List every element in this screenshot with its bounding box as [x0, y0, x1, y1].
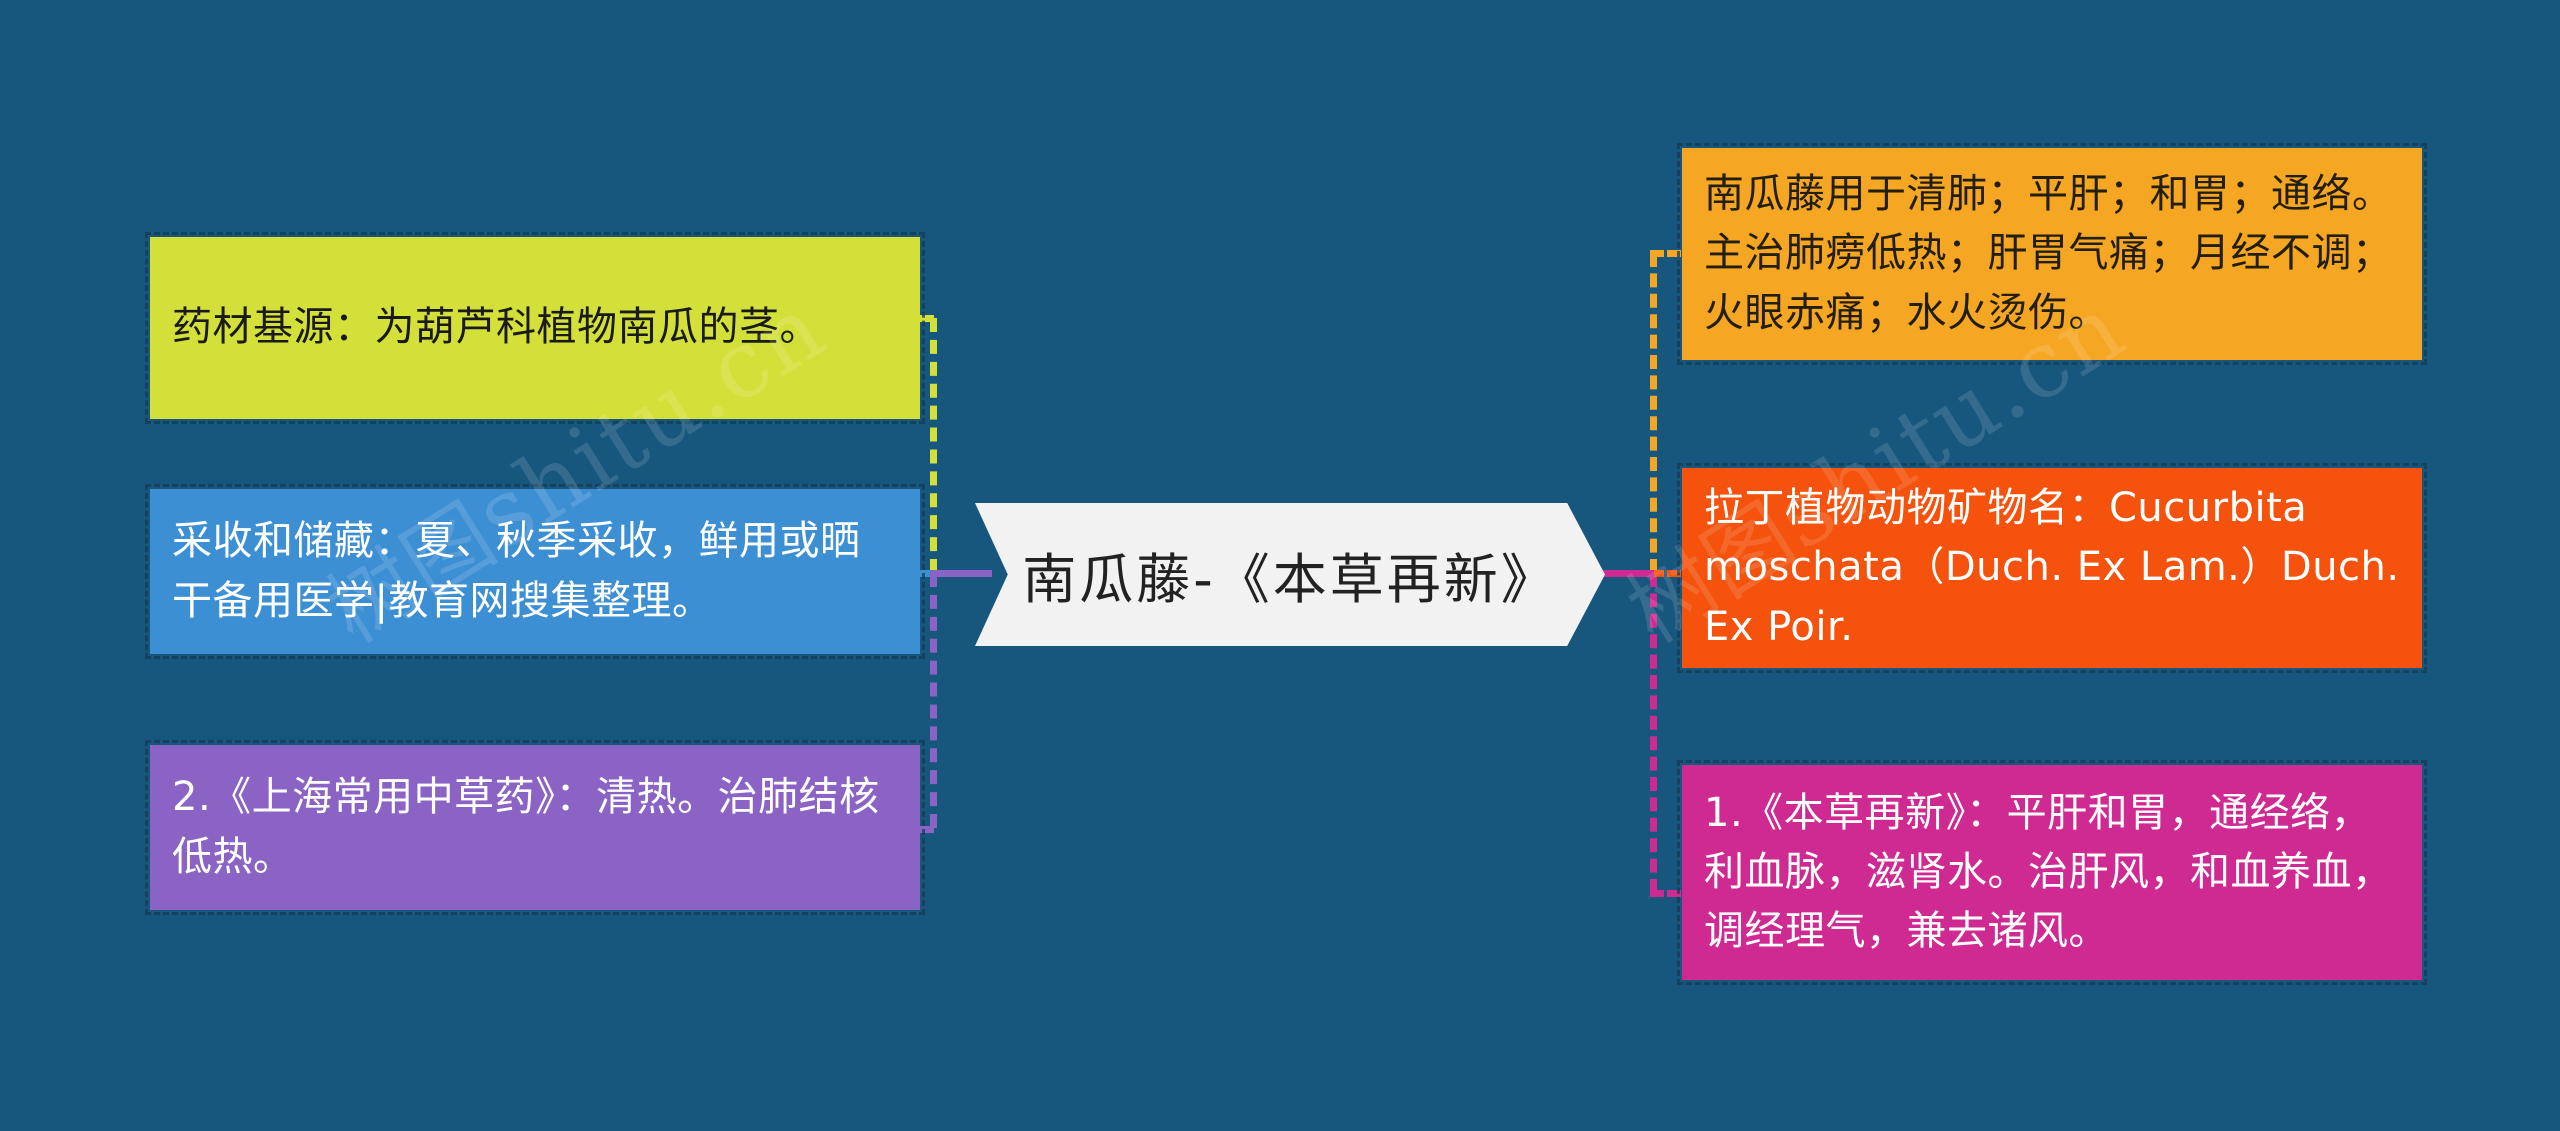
topic-shanghai-changyong-zhongcaoyao[interactable]: 2.《上海常用中草药》：清热。治肺结核低热。	[150, 745, 920, 910]
topic-ladingming[interactable]: 拉丁植物动物矿物名：Cucurbita moschata（Duch. Ex La…	[1682, 468, 2422, 668]
center-topic-node[interactable]: 南瓜藤-《本草再新》	[975, 503, 1605, 646]
connector-right-spine-upper	[1650, 253, 1657, 573]
topic-label: 药材基源：为葫芦科植物南瓜的茎。	[172, 298, 898, 357]
connector-left-to-center	[930, 570, 992, 577]
center-topic-label: 南瓜藤-《本草再新》	[1022, 535, 1558, 614]
topic-label: 拉丁植物动物矿物名：Cucurbita moschata（Duch. Ex La…	[1704, 479, 2400, 657]
topic-label: 南瓜藤用于清肺；平肝；和胃；通络。主治肺痨低热；肝胃气痛；月经不调；火眼赤痛；水…	[1704, 165, 2400, 343]
topic-bencao-zaixin[interactable]: 1.《本草再新》：平肝和胃，通经络，利血脉，滋肾水。治肝风，和血养血，调经理气，…	[1682, 765, 2422, 980]
topic-label: 采收和储藏：夏、秋季采收，鲜用或晒干备用医学|教育网搜集整理。	[172, 512, 898, 630]
topic-gong-neng-zhu-zhi[interactable]: 南瓜藤用于清肺；平肝；和胃；通络。主治肺痨低热；肝胃气痛；月经不调；火眼赤痛；水…	[1682, 148, 2422, 360]
topic-label: 1.《本草再新》：平肝和胃，通经络，利血脉，滋肾水。治肝风，和血养血，调经理气，…	[1704, 784, 2400, 962]
topic-cai-shou-he-chu-cang[interactable]: 采收和储藏：夏、秋季采收，鲜用或晒干备用医学|教育网搜集整理。	[150, 489, 920, 654]
topic-yao-cai-ji-yuan[interactable]: 药材基源：为葫芦科植物南瓜的茎。	[150, 237, 920, 419]
connector-left-spine-upper	[930, 318, 937, 573]
connector-left-spine-lower	[930, 573, 937, 828]
mindmap-canvas: 树图shitu.cn 树图shitu.cn 药材基源：为葫芦科植物南瓜的茎。 采…	[0, 0, 2560, 1131]
connector-right-spine-lower	[1650, 573, 1657, 893]
topic-label: 2.《上海常用中草药》：清热。治肺结核低热。	[172, 768, 898, 886]
